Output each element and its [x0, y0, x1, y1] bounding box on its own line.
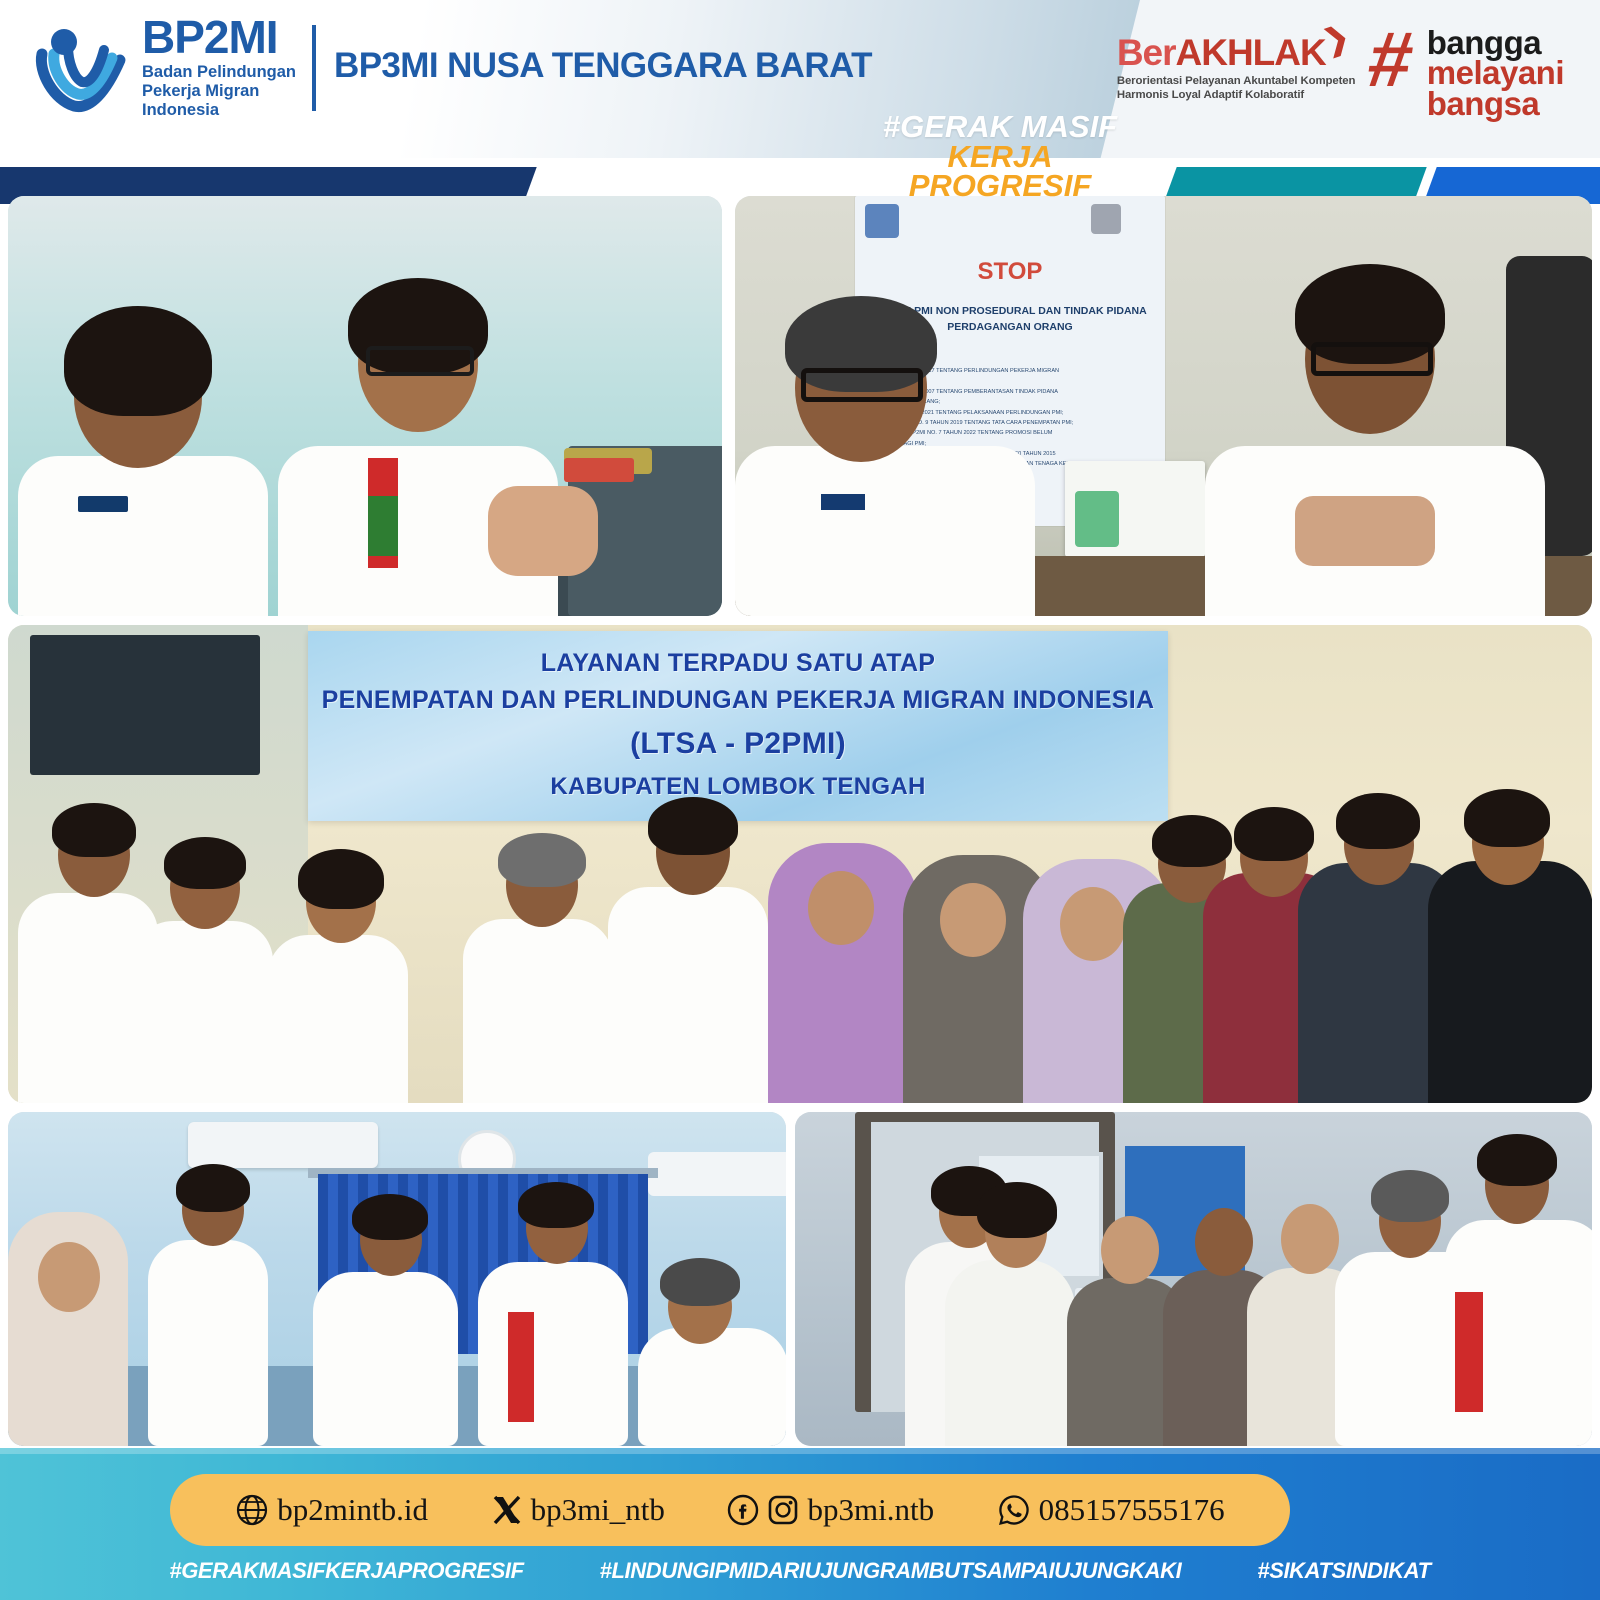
- bl-person-4-torso: [478, 1262, 628, 1446]
- ltsa-banner-line-1: LAYANAN TERPADU SATU ATAP: [308, 649, 1168, 678]
- group-person-10-hair: [1234, 807, 1314, 861]
- hashtag-2: #LINDUNGIPMIDARIUJUNGRAMBUTSAMPAIUJUNGKA…: [600, 1558, 1182, 1584]
- contact-social[interactable]: bp3mi.ntb: [727, 1492, 934, 1528]
- group-person-9-hair: [1152, 815, 1232, 867]
- photo-top-left: [8, 196, 722, 616]
- footer-top-divider: [0, 1448, 1600, 1454]
- hash-icon: #: [1365, 26, 1418, 92]
- bl-person-5-hair: [660, 1258, 740, 1306]
- group-person-5-hair: [648, 797, 738, 855]
- berakhlak-logo-block: BerAKHLAK❯ Berorientasi Pelayanan Akunta…: [1117, 22, 1564, 119]
- photo-top-right-scene: STOP CEGAH PMI NON PROSEDURAL DAN TINDAK…: [735, 196, 1592, 616]
- photo-top-right: STOP CEGAH PMI NON PROSEDURAL DAN TINDAK…: [735, 196, 1592, 616]
- calendar-phone-graphic: [1075, 491, 1119, 547]
- bl-uniform-stripe: [508, 1312, 534, 1422]
- window-frame: [30, 635, 260, 775]
- group-person-5-torso: [608, 887, 768, 1103]
- berakhlak-values-line-2: Harmonis Loyal Adaptif Kolaboratif: [1117, 88, 1356, 102]
- bp2mi-logo-block: BP2MI Badan Pelindungan Pekerja Migran I…: [28, 16, 872, 120]
- berakhlak-prefix: Ber: [1117, 32, 1176, 73]
- group-person-3-torso: [268, 935, 408, 1103]
- berakhlak-main: AKHLAK: [1176, 32, 1326, 73]
- desk-calendar-card: [1065, 461, 1205, 557]
- bangga-melayani-bangsa-block: bangga melayani bangsa: [1427, 22, 1564, 119]
- group-person-1-hair: [52, 803, 136, 857]
- bl-person-3-hair: [352, 1194, 428, 1240]
- page-header: BP2MI Badan Pelindungan Pekerja Migran I…: [0, 0, 1600, 158]
- br-person-2-torso: [945, 1260, 1075, 1446]
- bp2mi-title: BP2MI: [142, 16, 296, 60]
- instagram-icon: [767, 1494, 799, 1526]
- x-twitter-icon: [491, 1494, 523, 1526]
- ltsa-banner-line-4: KABUPATEN LOMBOK TENGAH: [308, 773, 1168, 801]
- group-row: [8, 803, 1592, 1103]
- photo-middle-scene: LAYANAN TERPADU SATU ATAP PENEMPATAN DAN…: [8, 625, 1592, 1103]
- hashtag-1: #GERAKMASIFKERJAPROGRESIF: [169, 1558, 523, 1584]
- berakhlak-values: Berorientasi Pelayanan Akuntabel Kompete…: [1117, 74, 1356, 103]
- contact-x-label: bp3mi_ntb: [531, 1492, 665, 1528]
- contact-social-label: bp3mi.ntb: [807, 1492, 934, 1528]
- bp2mi-checkmark-icon: [28, 20, 132, 116]
- clasped-hands: [1295, 496, 1435, 566]
- eyeglasses-right: [366, 346, 474, 376]
- bl-person-1-head: [38, 1242, 100, 1312]
- berakhlak-values-line-1: Berorientasi Pelayanan Akuntabel Kompete…: [1117, 74, 1356, 88]
- berakhlak-wordmark: BerAKHLAK❯: [1117, 34, 1356, 71]
- ltsa-banner: LAYANAN TERPADU SATU ATAP PENEMPATAN DAN…: [308, 631, 1168, 821]
- br-person-7-hair: [1477, 1134, 1557, 1186]
- air-conditioner-unit-2: [648, 1152, 786, 1196]
- person-left-hair: [64, 306, 212, 416]
- bl-person-3-torso: [313, 1272, 458, 1446]
- banner-ministry-logo: [1091, 204, 1121, 234]
- group-person-7-head: [940, 883, 1006, 957]
- whatsapp-icon: [997, 1493, 1031, 1527]
- photo-middle-group: LAYANAN TERPADU SATU ATAP PENEMPATAN DAN…: [8, 625, 1592, 1103]
- br-person-5-head: [1281, 1204, 1339, 1274]
- bp2mi-subtitle-line-2: Pekerja Migran: [142, 82, 296, 101]
- photo-collage: STOP CEGAH PMI NON PROSEDURAL DAN TINDAK…: [0, 196, 1600, 1446]
- red-box: [564, 458, 634, 482]
- hashtag-3: #SIKATSINDIKAT: [1257, 1558, 1430, 1584]
- contact-website[interactable]: bp2mintb.id: [235, 1492, 428, 1528]
- group-person-12-torso: [1428, 861, 1592, 1103]
- br-person-2-hair: [977, 1182, 1057, 1238]
- globe-icon: [235, 1493, 269, 1527]
- photo-top-left-scene: [8, 196, 722, 616]
- group-person-4-hair: [498, 833, 586, 887]
- office-title: BP3MI NUSA TENGGARA BARAT: [334, 46, 872, 86]
- bl-person-2-hair: [176, 1164, 250, 1212]
- page-footer: bp2mintb.id bp3mi_ntb: [0, 1448, 1600, 1600]
- bl-person-5-torso: [638, 1328, 786, 1446]
- br-uniform-stripe: [1455, 1292, 1483, 1412]
- facebook-icon: [727, 1494, 759, 1526]
- footer-hashtags: #GERAKMASIFKERJAPROGRESIF #LINDUNGIPMIDA…: [0, 1558, 1600, 1584]
- gesturing-hands: [488, 486, 598, 576]
- contact-pill: bp2mintb.id bp3mi_ntb: [170, 1474, 1290, 1546]
- campaign-tagline: #GERAK MASIF KERJA PROGRESIF: [860, 112, 1140, 200]
- berakhlak-wordmark-block: BerAKHLAK❯ Berorientasi Pelayanan Akunta…: [1117, 22, 1356, 103]
- contact-whatsapp[interactable]: 085157555176: [997, 1492, 1225, 1528]
- banner-agency-logo: [865, 204, 899, 238]
- name-tag-left: [78, 496, 128, 512]
- uniform-stripe-green: [368, 496, 398, 556]
- eyeglasses-b: [1311, 342, 1433, 376]
- bp2mi-subtitle-line-3: Indonesia: [142, 101, 296, 120]
- br-person-3-head: [1101, 1216, 1159, 1284]
- bp2mi-subtitle-line-1: Badan Pelindungan: [142, 63, 296, 82]
- group-person-4-torso: [463, 919, 613, 1103]
- eyeglasses-a: [801, 368, 923, 402]
- photo-bottom-left-scene: [8, 1112, 786, 1446]
- group-person-3-hair: [298, 849, 384, 909]
- person-left-torso: [18, 456, 268, 616]
- photo-bottom-left: [8, 1112, 786, 1446]
- group-person-2-hair: [164, 837, 246, 889]
- br-person-4-head: [1195, 1208, 1253, 1276]
- group-person-8-head: [1060, 887, 1126, 961]
- contact-website-label: bp2mintb.id: [277, 1492, 428, 1528]
- group-person-11-hair: [1336, 793, 1420, 849]
- bp2mi-text-block: BP2MI Badan Pelindungan Pekerja Migran I…: [142, 16, 296, 120]
- name-tag-a: [821, 494, 865, 510]
- br-person-6-hair: [1371, 1170, 1449, 1222]
- tagline-line-2: KERJA PROGRESIF: [860, 142, 1140, 200]
- ltsa-banner-line-2: PENEMPATAN DAN PERLINDUNGAN PEKERJA MIGR…: [308, 686, 1168, 715]
- photo-bottom-right: [795, 1112, 1592, 1446]
- banner-stop-text: STOP: [855, 258, 1165, 286]
- tagline-line-1: #GERAK MASIF: [860, 112, 1140, 141]
- bl-person-4-hair: [518, 1182, 594, 1228]
- contact-phone-label: 085157555176: [1039, 1492, 1225, 1528]
- photo-bottom-right-scene: [795, 1112, 1592, 1446]
- slogan-line-3: bangsa: [1427, 89, 1564, 119]
- group-person-6-head: [808, 871, 874, 945]
- group-person-2-torso: [133, 921, 273, 1103]
- ltsa-banner-line-3: (LTSA - P2PMI): [308, 727, 1168, 761]
- bl-person-2-torso: [148, 1240, 268, 1446]
- header-divider: [312, 25, 316, 111]
- air-conditioner-unit: [188, 1122, 378, 1168]
- group-person-12-hair: [1464, 789, 1550, 847]
- contact-x-twitter[interactable]: bp3mi_ntb: [491, 1492, 665, 1528]
- person-a-torso: [735, 446, 1035, 616]
- poster-root: BP2MI Badan Pelindungan Pekerja Migran I…: [0, 0, 1600, 1600]
- bp2mi-subtitle: Badan Pelindungan Pekerja Migran Indones…: [142, 63, 296, 120]
